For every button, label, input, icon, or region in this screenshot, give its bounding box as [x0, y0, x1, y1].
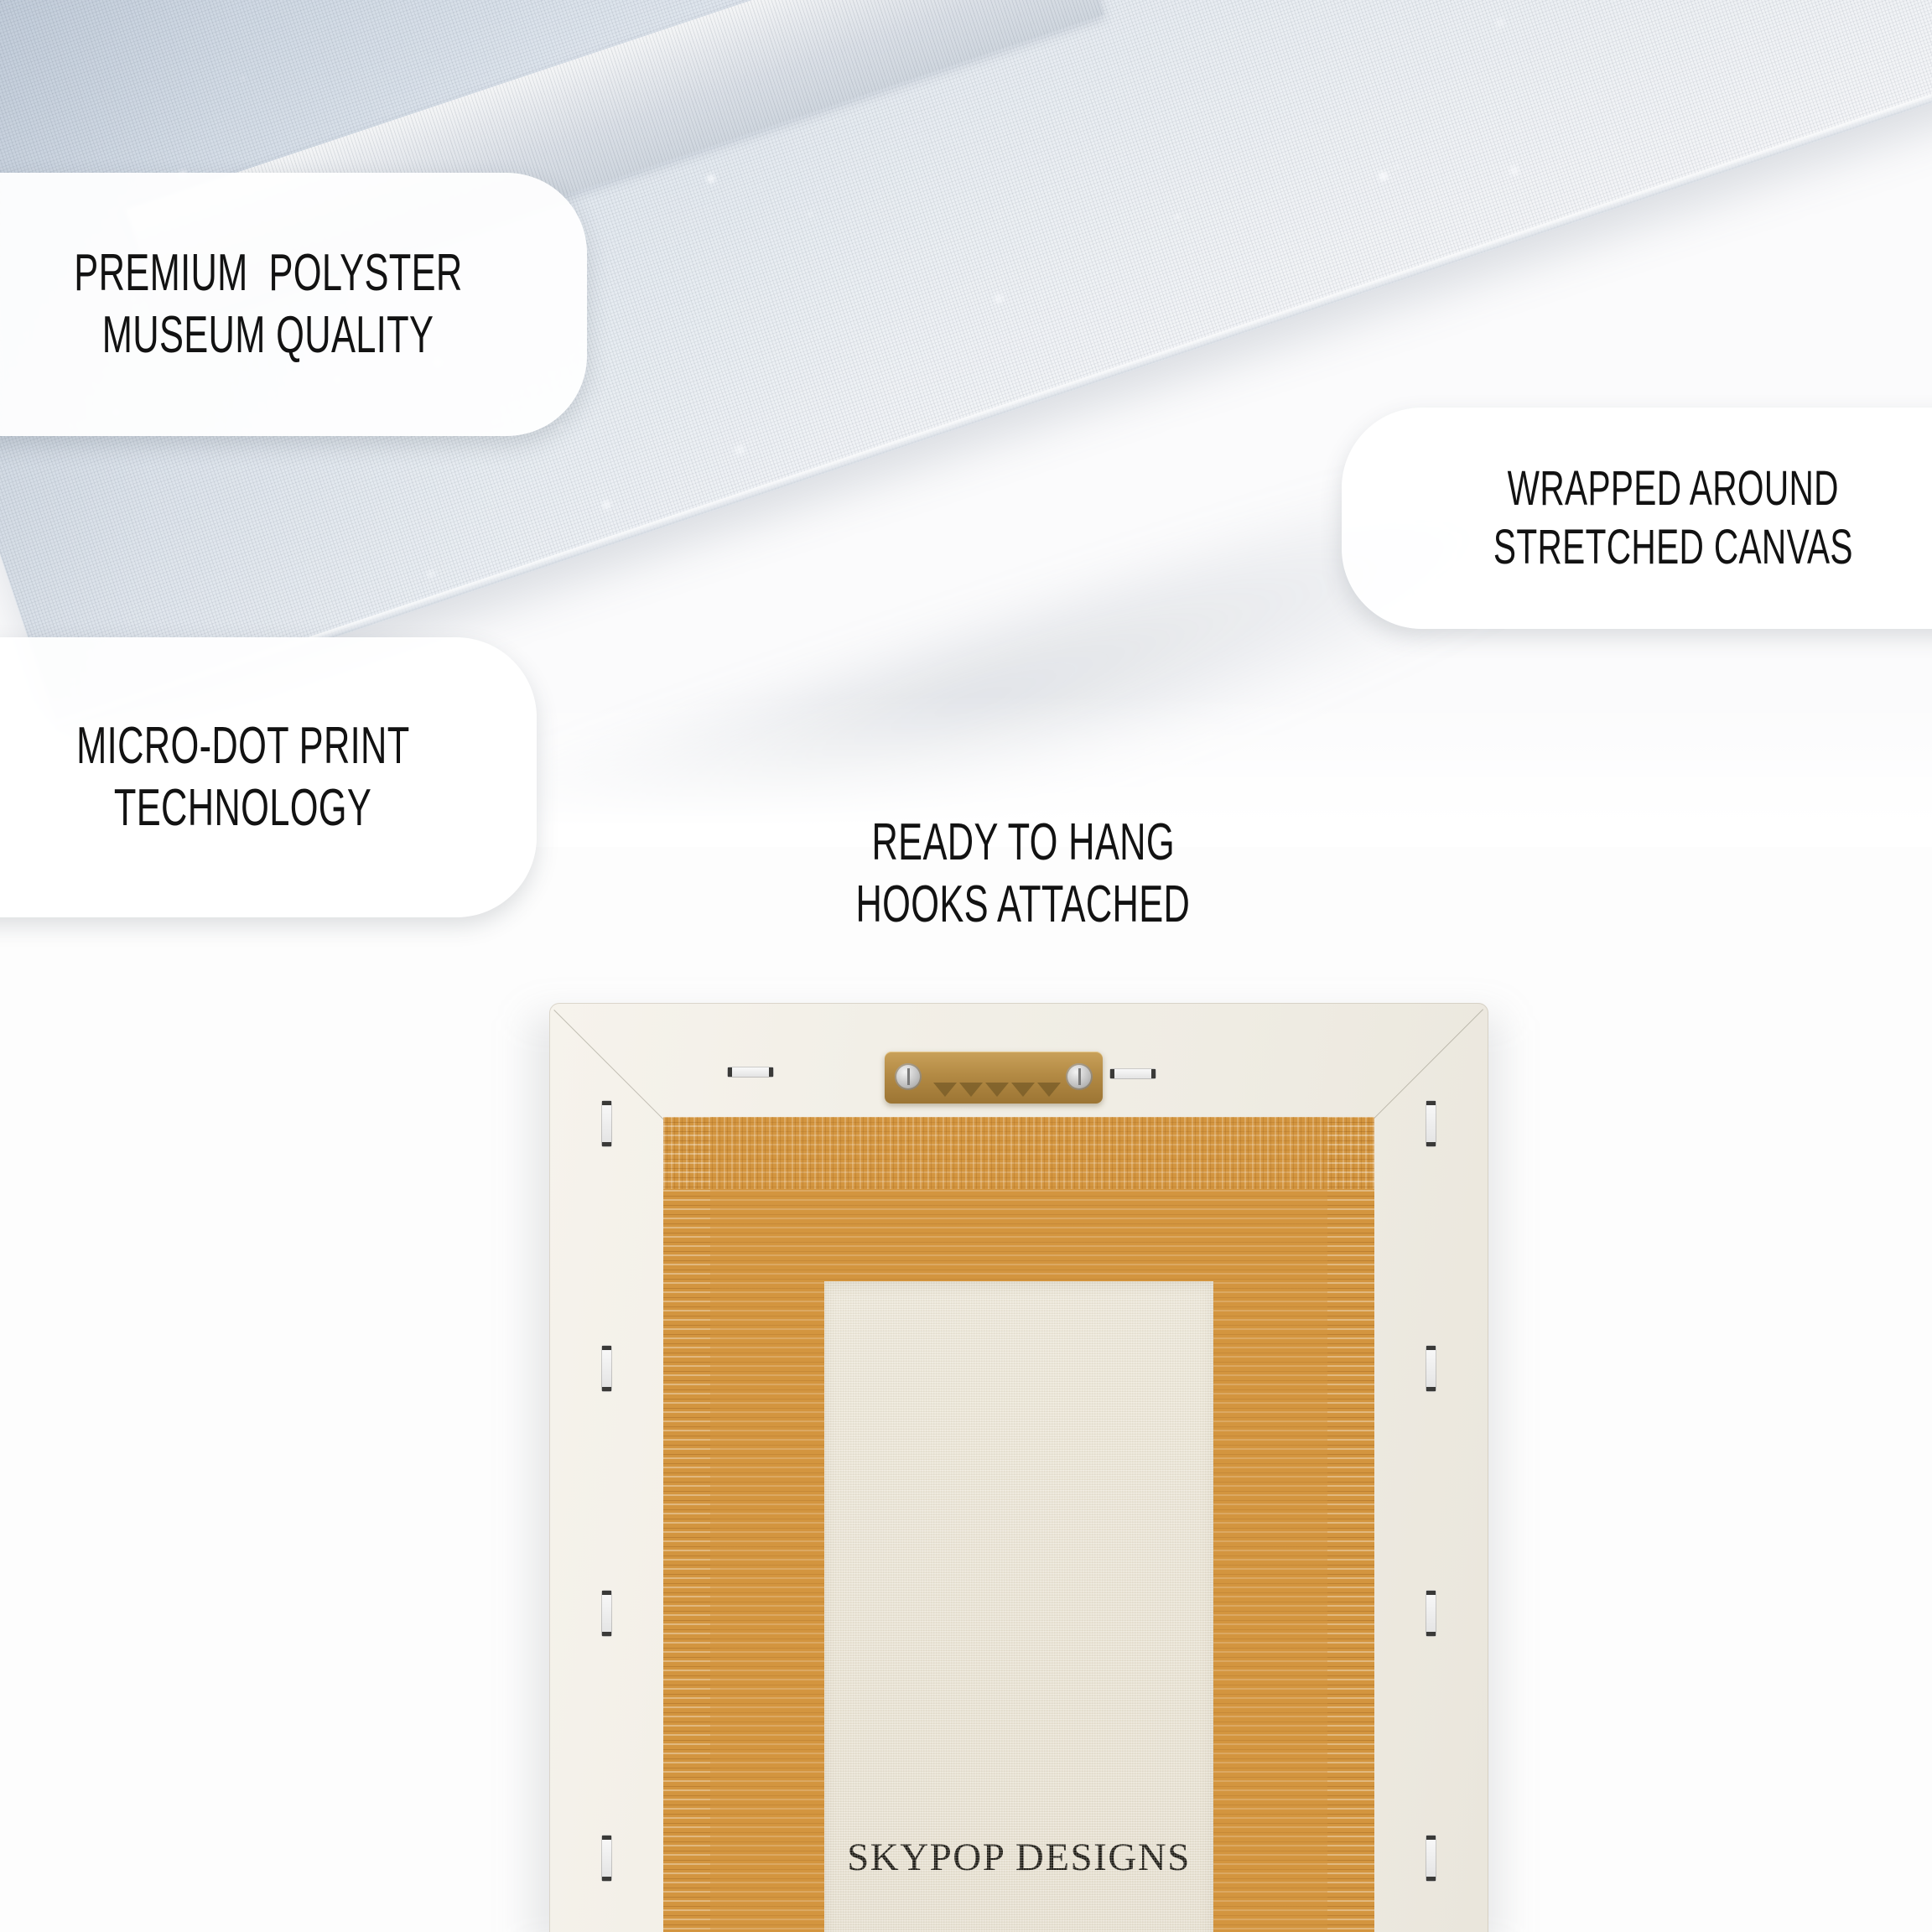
- feature-label-line-2: HOOKS ATTACHED: [856, 874, 1191, 936]
- staple: [601, 1345, 612, 1392]
- staple: [1426, 1100, 1436, 1147]
- stretcher-bar-right: [1327, 1117, 1374, 1932]
- hanger-tooth: [1011, 1083, 1035, 1097]
- feature-label-premium-polyester: PREMIUM POLYSTER MUSEUM QUALITY: [0, 173, 587, 436]
- infographic-root: PREMIUM POLYSTER MUSEUM QUALITY WRAPPED …: [0, 0, 1932, 1932]
- sawtooth-hanger: [885, 1052, 1103, 1104]
- hanger-tooth: [933, 1083, 957, 1097]
- feature-label-line-2: TECHNOLOGY: [114, 777, 371, 839]
- stretcher-bar-left: [663, 1117, 710, 1932]
- hanger-screw-left: [895, 1063, 922, 1090]
- feature-label-wrapped-around: WRAPPED AROUND STRETCHED CANVAS: [1342, 408, 1932, 629]
- feature-label-line-1: WRAPPED AROUND: [1507, 460, 1838, 518]
- canvas-wrap-panel: SKYPOP DESIGNS ★★★★★★★★★★★★★★★★★★★★★★★★★…: [549, 1003, 1488, 1932]
- staple: [601, 1835, 612, 1882]
- hanger-tooth: [1037, 1083, 1061, 1097]
- staple: [1426, 1835, 1436, 1882]
- stretcher-bar-top: [663, 1117, 1374, 1189]
- staple: [727, 1067, 774, 1078]
- feature-label-line-2: MUSEUM QUALITY: [102, 304, 434, 366]
- feature-label-line-1: READY TO HANG: [871, 812, 1175, 874]
- hanger-tooth: [959, 1083, 983, 1097]
- staple: [601, 1590, 612, 1637]
- hanger-tooth: [985, 1083, 1009, 1097]
- staple: [1426, 1345, 1436, 1392]
- canvas-backing-surface: SKYPOP DESIGNS ★★★★★★★★★★★★★★★★★★★★★★★★★…: [824, 1281, 1213, 1932]
- canvas-back-view: SKYPOP DESIGNS ★★★★★★★★★★★★★★★★★★★★★★★★★…: [549, 1003, 1488, 1932]
- feature-label-line-1: MICRO-DOT PRINT: [76, 715, 409, 777]
- brand-name: SKYPOP DESIGNS: [824, 1835, 1213, 1880]
- wood-grain-texture: [663, 1117, 1374, 1189]
- staple: [1109, 1068, 1156, 1079]
- staple: [601, 1100, 612, 1147]
- hanger-screw-right: [1066, 1063, 1093, 1090]
- staple: [1426, 1590, 1436, 1637]
- feature-label-line-1: PREMIUM POLYSTER: [74, 242, 462, 304]
- wooden-stretcher-frame: SKYPOP DESIGNS ★★★★★★★★★★★★★★★★★★★★★★★★★…: [663, 1117, 1374, 1932]
- wood-grain-texture: [1327, 1117, 1374, 1932]
- hanger-tooth-row: [933, 1082, 1061, 1097]
- feature-label-ready-to-hang: READY TO HANG HOOKS ATTACHED: [755, 812, 1291, 937]
- feature-label-micro-dot: MICRO-DOT PRINT TECHNOLOGY: [0, 637, 537, 917]
- wood-grain-texture: [663, 1117, 710, 1932]
- feature-label-line-2: STRETCHED CANVAS: [1493, 518, 1853, 577]
